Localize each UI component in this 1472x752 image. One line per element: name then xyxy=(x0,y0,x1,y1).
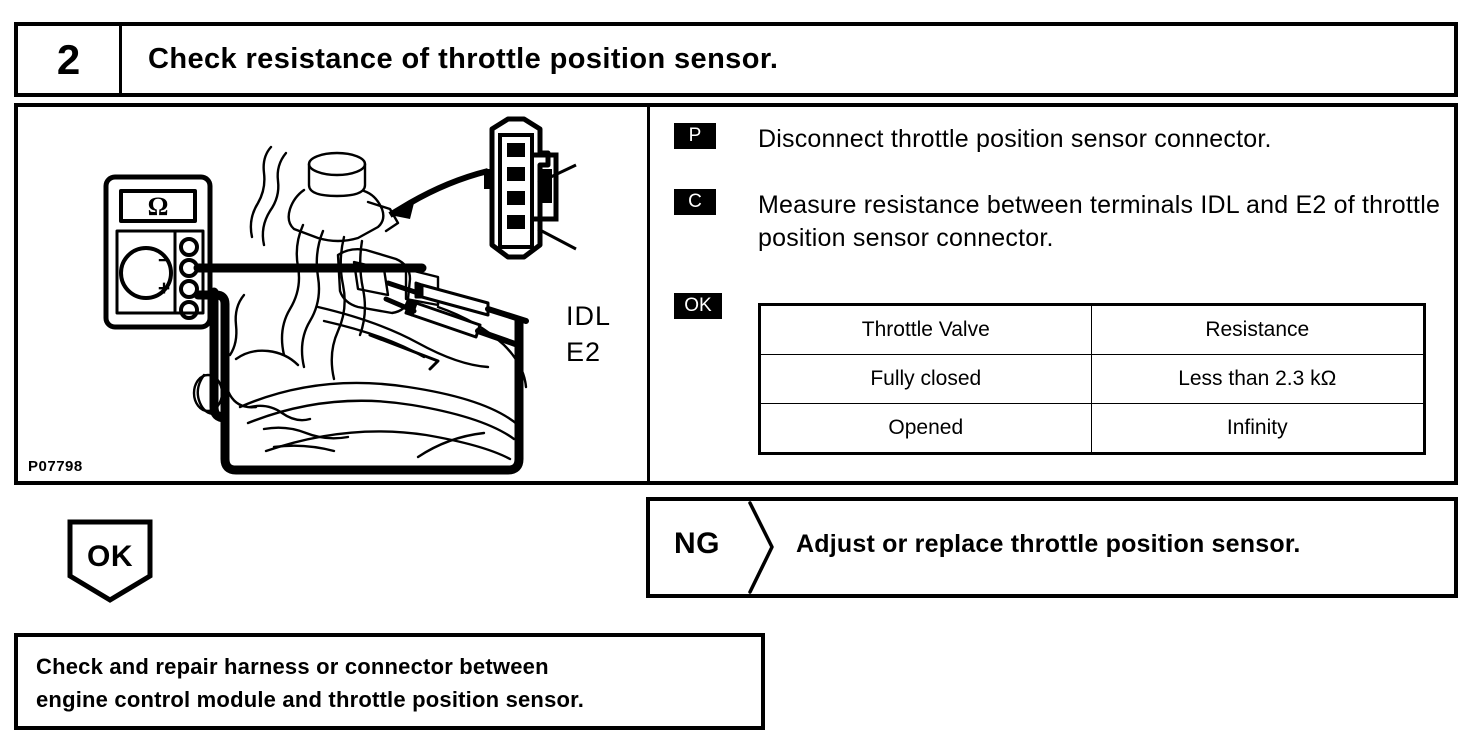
ok-result-flag: OK xyxy=(66,518,154,604)
instruction-row-p: P Disconnect throttle position sensor co… xyxy=(674,123,1272,156)
service-manual-page: 2 Check resistance of throttle position … xyxy=(0,0,1472,752)
ng-action-text: Adjust or replace throttle position sens… xyxy=(796,530,1301,559)
step-number: 2 xyxy=(18,26,122,93)
column-header-resistance: Resistance xyxy=(1091,305,1424,355)
minus-terminal-label: − xyxy=(158,249,170,272)
badge-preparation: P xyxy=(674,123,716,149)
instructions-pane: P Disconnect throttle position sensor co… xyxy=(650,107,1454,481)
table-row: Opened Infinity xyxy=(760,404,1425,454)
chevron-right-icon xyxy=(746,501,782,594)
table-header-row: Throttle Valve Resistance xyxy=(760,305,1425,355)
resistance-spec-table: Throttle Valve Resistance Fully closed L… xyxy=(758,303,1426,455)
sensor-connector-detail xyxy=(484,119,556,257)
ng-result-label: NG xyxy=(674,527,720,561)
step-body: Ω − + xyxy=(14,103,1458,485)
cell-valve-state-opened: Opened xyxy=(760,404,1092,454)
step-header: 2 Check resistance of throttle position … xyxy=(14,22,1458,97)
badge-ok-spec: OK xyxy=(674,293,722,319)
ok-action-box: Check and repair harness or connector be… xyxy=(14,633,765,730)
cell-resistance-opened: Infinity xyxy=(1091,404,1424,454)
table-row: Fully closed Less than 2.3 kΩ xyxy=(760,355,1425,404)
badge-check: C xyxy=(674,189,716,215)
illustration-pane: Ω − + xyxy=(18,107,650,481)
column-header-throttle-valve: Throttle Valve xyxy=(760,305,1092,355)
instruction-row-ok: OK xyxy=(674,293,722,319)
callout-arrow xyxy=(390,171,488,219)
e2-terminal-label: E2 xyxy=(566,337,601,368)
page-title: Check resistance of throttle position se… xyxy=(122,26,1454,93)
ok-action-line-1: Check and repair harness or connector be… xyxy=(36,650,761,683)
ok-action-line-2: engine control module and throttle posit… xyxy=(36,683,761,716)
ohm-symbol: Ω xyxy=(148,192,169,221)
figure-part-code: P07798 xyxy=(28,458,83,475)
instruction-text-c: Measure resistance between terminals IDL… xyxy=(758,189,1454,255)
ng-result-box: NG Adjust or replace throttle position s… xyxy=(646,497,1458,598)
ok-result-label: OK xyxy=(66,540,154,574)
cell-resistance-closed: Less than 2.3 kΩ xyxy=(1091,355,1424,404)
idl-terminal-label: IDL xyxy=(566,301,611,332)
cell-valve-state-closed: Fully closed xyxy=(760,355,1092,404)
throttle-sensor-measurement-illustration: Ω − + xyxy=(18,107,644,481)
instruction-text-p: Disconnect throttle position sensor conn… xyxy=(758,123,1272,156)
instruction-row-c: C Measure resistance between terminals I… xyxy=(674,189,1454,255)
plus-terminal-label: + xyxy=(158,277,170,300)
